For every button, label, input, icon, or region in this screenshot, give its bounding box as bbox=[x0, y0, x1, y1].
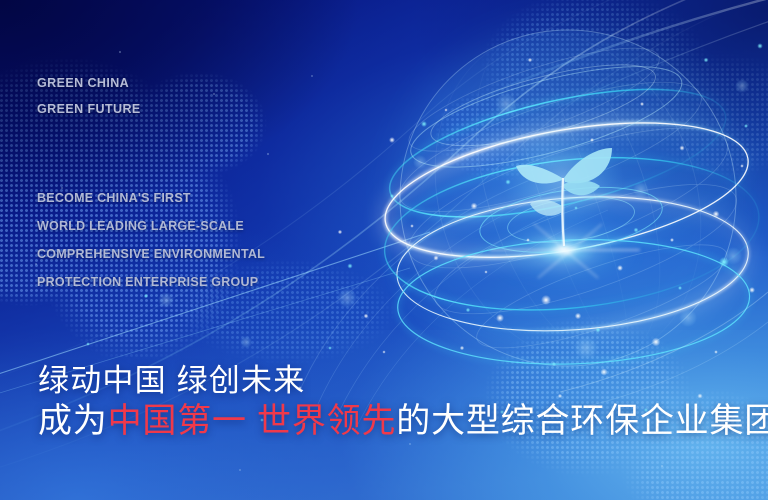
eyebrow-line-2: GREEN FUTURE bbox=[37, 96, 141, 122]
subhead-statement: BECOME CHINA'S FIRST WORLD LEADING LARGE… bbox=[37, 184, 265, 296]
eyebrow-line-1: GREEN CHINA bbox=[37, 70, 141, 96]
subhead-line-2: WORLD LEADING LARGE-SCALE bbox=[37, 212, 265, 240]
subhead-line-1: BECOME CHINA'S FIRST bbox=[37, 184, 265, 212]
subhead-line-3: COMPREHENSIVE ENVIRONMENTAL bbox=[37, 240, 265, 268]
headline-accent: 中国第一 世界领先 bbox=[108, 402, 397, 440]
headline-prefix: 成为 bbox=[38, 402, 108, 440]
headline-suffix: 的大型综合环保企业集团 bbox=[396, 402, 768, 440]
headline-line-2: 成为中国第一 世界领先的大型综合环保企业集团 bbox=[38, 400, 768, 442]
headline-line-1: 绿动中国 绿创未来 bbox=[38, 362, 768, 400]
subhead-line-4: PROTECTION ENTERPRISE GROUP bbox=[37, 268, 265, 296]
eyebrow-tagline: GREEN CHINA GREEN FUTURE bbox=[37, 70, 141, 122]
hero-banner: GREEN CHINA GREEN FUTURE BECOME CHINA'S … bbox=[0, 0, 768, 500]
headline-block: 绿动中国 绿创未来 成为中国第一 世界领先的大型综合环保企业集团 bbox=[38, 362, 768, 442]
